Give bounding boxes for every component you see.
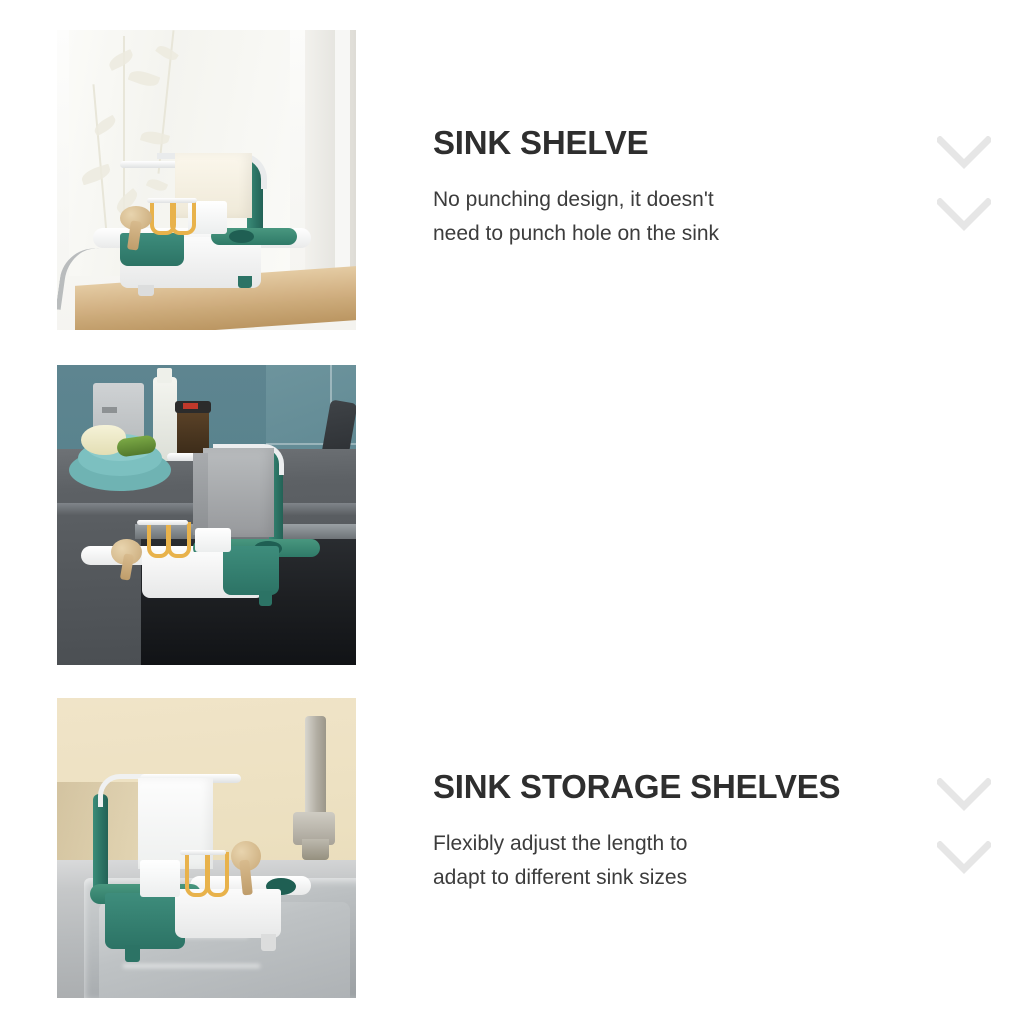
photo-scene-grey-counter [57,365,356,665]
feature-row-3: SINK DRAINING RACK Can be a large capaci… [0,698,1024,1000]
photo-scene-stainless-sink [57,698,356,998]
feature-image-2 [57,365,356,665]
product-feature-infographic: SINK SHELVE No punching design, it doesn… [0,0,1024,1024]
feature-row-1: SINK SHELVE No punching design, it doesn… [0,30,1024,332]
feature-title-1: SINK SHELVE [433,126,933,161]
feature-description-1: No punching design, it doesn't need to p… [433,183,933,251]
feature-row-2: SINK STORAGE SHELVES Flexibly adjust the… [0,365,1024,667]
chevron-down-icon [937,136,991,170]
photo-scene-window-sill [57,30,356,330]
feature-image-1 [57,30,356,330]
chevron-down-icon [937,198,991,232]
feature-image-3 [57,698,356,998]
feature-text-1: SINK SHELVE No punching design, it doesn… [433,126,933,251]
